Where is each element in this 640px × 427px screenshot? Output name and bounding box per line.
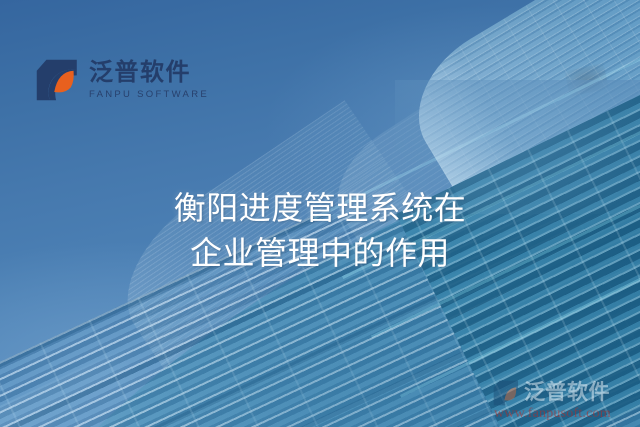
watermark: 泛普软件 www.fanpusoft.com xyxy=(492,379,636,421)
brand-name-cn: 泛普软件 xyxy=(89,60,209,85)
brand-name-en: FANPU SOFTWARE xyxy=(89,89,209,100)
watermark-brand-row: 泛普软件 xyxy=(492,379,636,407)
banner-image: 泛普软件 FANPU SOFTWARE 衡阳进度管理系统在 企业管理中的作用 泛… xyxy=(0,0,640,427)
watermark-brand-name: 泛普软件 xyxy=(524,382,610,403)
watermark-url: www.fanpusoft.com xyxy=(492,406,636,421)
brand-logo-text: 泛普软件 FANPU SOFTWARE xyxy=(89,60,209,100)
fanpu-sail-logo-icon xyxy=(34,57,80,103)
brand-logo: 泛普软件 FANPU SOFTWARE xyxy=(34,57,209,103)
watermark-fanpu-sail-logo-icon xyxy=(492,379,520,407)
